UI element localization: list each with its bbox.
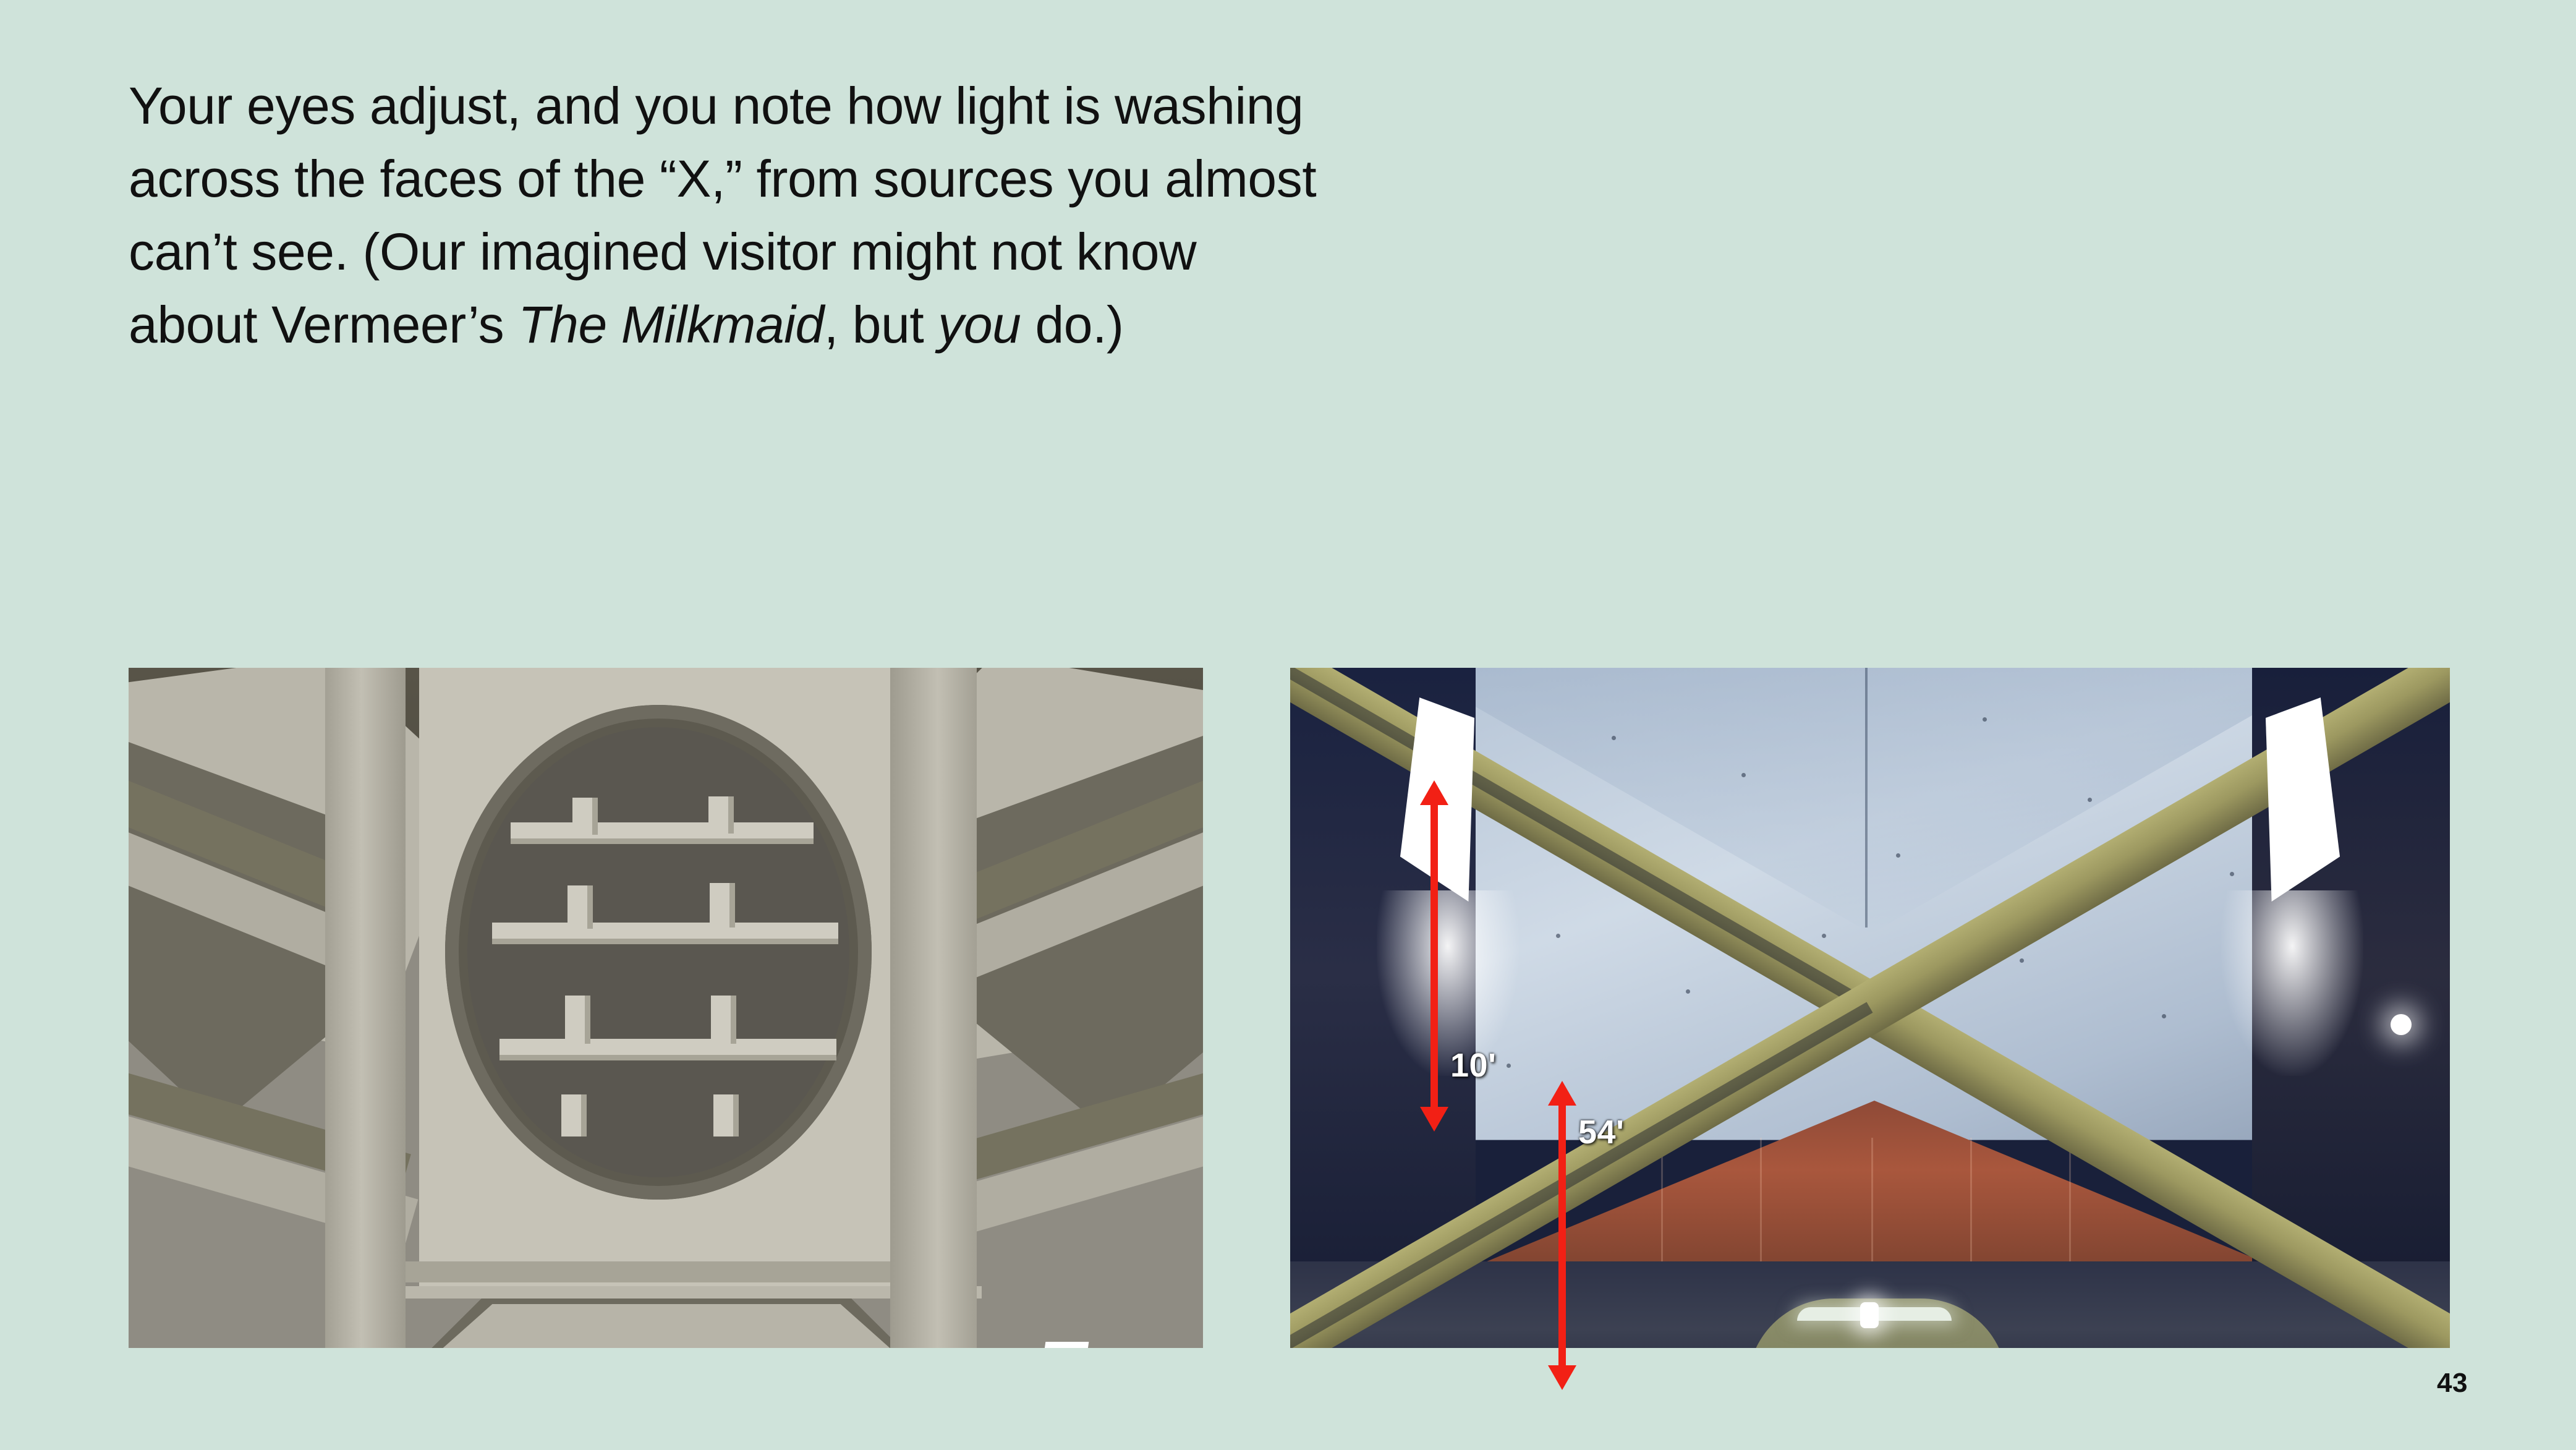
photo-copper-seam-1 [1661,1138,1663,1274]
dimension-10-arrowhead-bottom [1420,1107,1448,1132]
photo-arch-lamp [1860,1302,1879,1328]
photo-speckle [1741,773,1746,777]
photo-copper-seam-3 [1871,1138,1873,1274]
render-oculus-beam-h3 [499,1039,836,1055]
photo-spot-light-right [2391,1014,2412,1035]
render-oculus-beam-v7 [561,1094,581,1137]
render-oculus-beam-v6 [711,996,731,1044]
render-tie-beam-upper [363,1261,969,1282]
render-oculus-beam-v5 [565,996,585,1044]
photo-speckle [1896,853,1900,858]
photo-speckle [1983,717,1987,722]
page-number: 43 [2437,1368,2468,1399]
render-oculus-beam-v4 [710,883,729,928]
photo-speckle [2162,1014,2166,1018]
photo-glow-left [1377,890,1519,1076]
photo-speckle [2020,958,2024,963]
photo-copper-seam-5 [2069,1138,2071,1274]
body-line-4-end: do.) [1021,296,1124,354]
render-oculus-beam-h2 [492,923,838,939]
body-line-4-mid: , but [824,296,938,354]
photo-speckle [1507,1064,1511,1068]
slide-canvas: Your eyes adjust, and you note how light… [0,0,2576,1450]
photo-speckle [1686,989,1690,994]
render-oculus-beam-h1 [511,822,814,838]
photo-speckle [1612,736,1616,740]
emphasis-you: you [938,296,1021,354]
photo-copper-seam-2 [1760,1138,1762,1274]
body-line-4-lead: about Vermeer’s [129,296,518,354]
photo-glow-right [2221,890,2363,1076]
photo-speckle [2088,798,2092,802]
dimension-54-shaft [1558,1102,1566,1369]
photo-speckle [1822,934,1826,938]
render-column-left [325,668,406,1348]
body-paragraph: Your eyes adjust, and you note how light… [129,69,1241,361]
render-column-right [890,668,977,1348]
photo-speckle [2230,872,2234,876]
photo-frame [1290,668,2450,1348]
photo-speckle [1556,934,1560,938]
dimension-10-label: 10' [1450,1046,1496,1085]
photo-copper-seam-4 [1970,1138,1972,1274]
render-oculus-beam-v8 [713,1094,733,1137]
body-line-1: Your eyes adjust, and you note how light… [129,69,1241,142]
body-line-3: can’t see. (Our imagined visitor might n… [129,215,1241,288]
photo-vault-seam [1865,668,1868,928]
body-line-2: across the faces of the “X,” from source… [129,142,1241,215]
figure-model-render [129,668,1203,1348]
render-oculus-beam-v3 [567,885,587,929]
dimension-54-arrowhead-bottom [1548,1365,1576,1390]
render-oculus-beam-v2 [708,796,728,834]
render-oculus-void [467,727,849,1177]
body-line-4: about Vermeer’s The Milkmaid, but you do… [129,288,1241,361]
render-light-slot-upper-right [1029,1342,1089,1348]
figure-photograph [1290,668,2450,1348]
render-oculus-beam-v1 [572,798,592,835]
dimension-54-label: 54' [1578,1113,1624,1151]
artwork-title-milkmaid: The Milkmaid [518,296,824,354]
dimension-10-shaft [1430,801,1438,1111]
render-tie-beam-lower [345,1286,982,1299]
